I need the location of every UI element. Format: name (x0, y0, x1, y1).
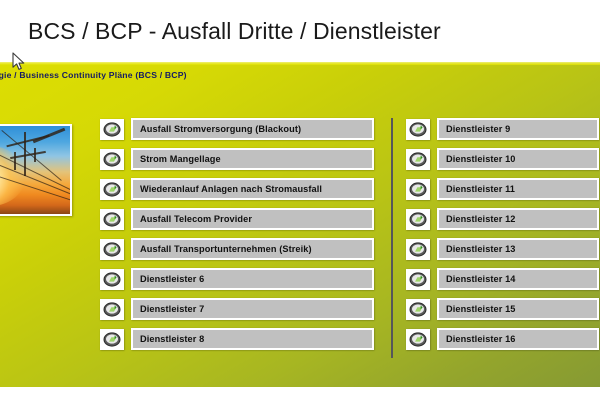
body-top-highlight (0, 62, 600, 65)
action-row[interactable]: Dienstleister 11 (406, 178, 599, 200)
nav-button[interactable]: Dienstleister 6 (131, 268, 374, 290)
action-button-icon[interactable] (406, 239, 430, 260)
action-button-icon[interactable] (100, 269, 124, 290)
page-title: BCS / BCP - Ausfall Dritte / Dienstleist… (28, 18, 441, 45)
action-row[interactable]: Dienstleister 16 (406, 328, 599, 350)
nav-button-label: Dienstleister 9 (446, 124, 510, 134)
nav-button-label: Dienstleister 12 (446, 214, 516, 224)
action-row[interactable]: Dienstleister 9 (406, 118, 599, 140)
action-button-icon[interactable] (100, 149, 124, 170)
nav-button-label: Dienstleister 8 (140, 334, 204, 344)
nav-button[interactable]: Dienstleister 10 (437, 148, 599, 170)
left-button-column: Ausfall Stromversorgung (Blackout) Strom… (100, 118, 374, 358)
action-row[interactable]: Dienstleister 10 (406, 148, 599, 170)
nav-button-label: Dienstleister 10 (446, 154, 516, 164)
nav-button[interactable]: Ausfall Stromversorgung (Blackout) (131, 118, 374, 140)
action-button-icon[interactable] (406, 119, 430, 140)
nav-button-label: Dienstleister 11 (446, 184, 515, 194)
nav-button-label: Ausfall Telecom Provider (140, 214, 252, 224)
nav-button-label: Ausfall Transportunternehmen (Streik) (140, 244, 312, 254)
nav-button-label: Dienstleister 15 (446, 304, 516, 314)
action-button-icon[interactable] (406, 209, 430, 230)
title-band: BCS / BCP - Ausfall Dritte / Dienstleist… (0, 0, 600, 62)
action-row[interactable]: Ausfall Telecom Provider (100, 208, 374, 230)
nav-button[interactable]: Dienstleister 16 (437, 328, 599, 350)
nav-button[interactable]: Dienstleister 7 (131, 298, 374, 320)
nav-button-label: Dienstleister 6 (140, 274, 204, 284)
right-button-column: Dienstleister 9 Dienstleister 10 (406, 118, 599, 358)
action-row[interactable]: Dienstleister 6 (100, 268, 374, 290)
action-button-icon[interactable] (100, 209, 124, 230)
nav-button[interactable]: Strom Mangellage (131, 148, 374, 170)
column-divider (391, 118, 393, 358)
photo-frame (0, 124, 72, 216)
power-lines-sunset-photo (0, 126, 70, 214)
action-button-icon[interactable] (406, 329, 430, 350)
nav-button[interactable]: Wiederanlauf Anlagen nach Stromausfall (131, 178, 374, 200)
action-row[interactable]: Dienstleister 8 (100, 328, 374, 350)
nav-button[interactable]: Ausfall Telecom Provider (131, 208, 374, 230)
action-row[interactable]: Strom Mangellage (100, 148, 374, 170)
action-button-icon[interactable] (100, 239, 124, 260)
action-button-icon[interactable] (406, 299, 430, 320)
nav-button[interactable]: Dienstleister 8 (131, 328, 374, 350)
nav-button-label: Dienstleister 16 (446, 334, 516, 344)
action-button-icon[interactable] (100, 179, 124, 200)
action-button-icon[interactable] (100, 299, 124, 320)
action-row[interactable]: Dienstleister 14 (406, 268, 599, 290)
nav-button-label: Dienstleister 14 (446, 274, 516, 284)
nav-button[interactable]: Ausfall Transportunternehmen (Streik) (131, 238, 374, 260)
action-button-icon[interactable] (406, 149, 430, 170)
nav-button[interactable]: Dienstleister 14 (437, 268, 599, 290)
nav-button[interactable]: Dienstleister 13 (437, 238, 599, 260)
nav-button-label: Ausfall Stromversorgung (Blackout) (140, 124, 301, 134)
nav-button[interactable]: Dienstleister 15 (437, 298, 599, 320)
nav-button[interactable]: Dienstleister 9 (437, 118, 599, 140)
nav-button[interactable]: Dienstleister 11 (437, 178, 599, 200)
action-row[interactable]: Dienstleister 7 (100, 298, 374, 320)
action-button-icon[interactable] (406, 179, 430, 200)
nav-button-label: Dienstleister 7 (140, 304, 204, 314)
nav-button-label: Dienstleister 13 (446, 244, 516, 254)
action-button-icon[interactable] (100, 119, 124, 140)
action-row[interactable]: Ausfall Stromversorgung (Blackout) (100, 118, 374, 140)
pylon-truss (33, 128, 66, 144)
action-button-icon[interactable] (406, 269, 430, 290)
action-row[interactable]: Ausfall Transportunternehmen (Streik) (100, 238, 374, 260)
action-row[interactable]: Dienstleister 13 (406, 238, 599, 260)
action-row[interactable]: Wiederanlauf Anlagen nach Stromausfall (100, 178, 374, 200)
slide-body: rategie / Business Continuity Pläne (BCS… (0, 62, 600, 387)
breadcrumb: rategie / Business Continuity Pläne (BCS… (0, 70, 187, 80)
nav-button-label: Wiederanlauf Anlagen nach Stromausfall (140, 184, 322, 194)
nav-button-label: Strom Mangellage (140, 154, 221, 164)
action-row[interactable]: Dienstleister 15 (406, 298, 599, 320)
nav-button[interactable]: Dienstleister 12 (437, 208, 599, 230)
action-button-icon[interactable] (100, 329, 124, 350)
action-row[interactable]: Dienstleister 12 (406, 208, 599, 230)
